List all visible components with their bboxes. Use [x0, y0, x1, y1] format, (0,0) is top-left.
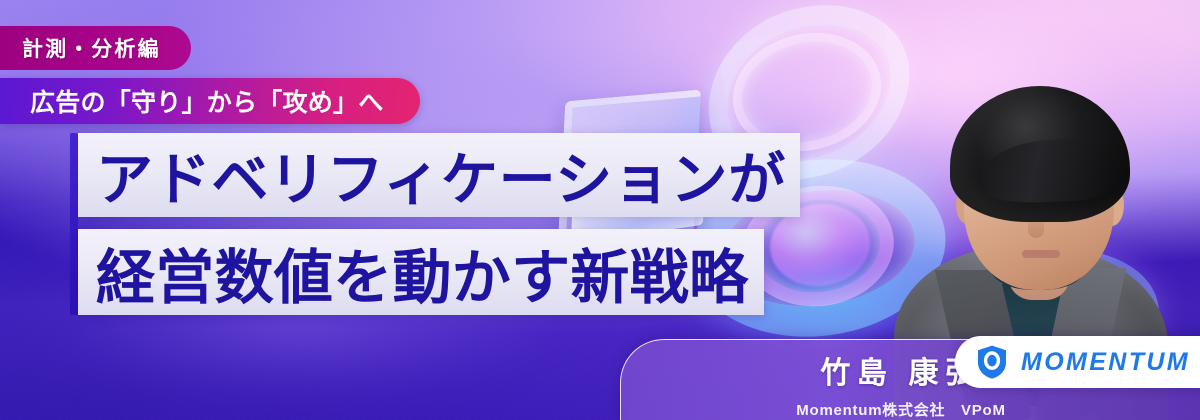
title-accent-bar [70, 133, 78, 315]
portrait-mouth [1022, 250, 1060, 258]
momentum-logo: MOMENTUM [955, 336, 1200, 388]
series-badge: 計測・分析編 [0, 26, 191, 70]
series-badge-label: 計測・分析編 [22, 33, 161, 63]
title-line-1: アドベリフィケーションが [78, 133, 800, 217]
seminar-banner: 計測・分析編 広告の「守り」から「攻め」へ アドベリフィケーションが 経営数値を… [0, 0, 1200, 420]
title-line-2: 経営数値を動かす新戦略 [78, 229, 764, 315]
momentum-wordmark: MOMENTUM [1021, 348, 1190, 377]
subtitle-pill: 広告の「守り」から「攻め」へ [0, 78, 420, 124]
subtitle-label: 広告の「守り」から「攻め」へ [30, 83, 384, 119]
speaker-role: Momentum株式会社 VPoM [796, 399, 1005, 420]
shield-icon [977, 345, 1007, 379]
title-line-1-text: アドベリフィケーションが [96, 134, 786, 216]
title-line-2-text: 経営数値を動かす新戦略 [96, 230, 748, 315]
